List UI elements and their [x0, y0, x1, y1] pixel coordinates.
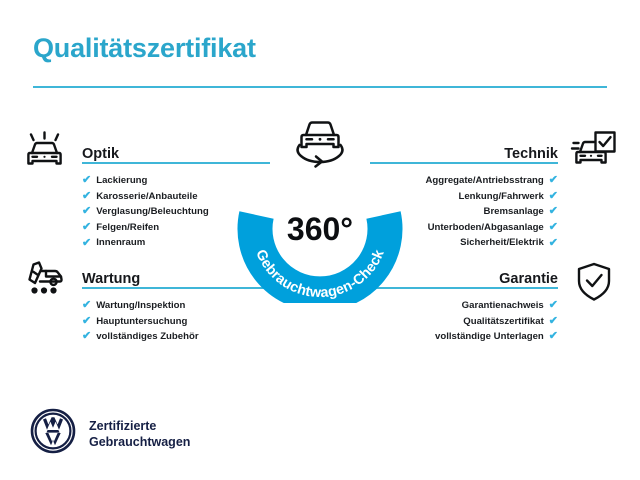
list-item-label: Karosserie/Anbauteile [96, 189, 197, 205]
list-item-label: Hauptuntersuchung [96, 314, 187, 330]
check-icon: ✔ [82, 331, 91, 342]
check-icon: ✔ [549, 331, 558, 342]
car-checkbox-icon [570, 130, 618, 177]
page-title: Qualitätszertifikat [33, 33, 256, 64]
list-item-label: Qualitätszertifikat [463, 314, 544, 330]
360-check-badge: Gebrauchtwagen-Check 360° [232, 155, 408, 303]
title-divider [33, 86, 607, 88]
check-icon: ✔ [549, 238, 558, 249]
vw-logo-icon [30, 408, 76, 459]
check-icon: ✔ [82, 191, 91, 202]
car-service-pen-icon [22, 258, 68, 303]
check-icon: ✔ [82, 316, 91, 327]
list-item-label: Verglasung/Beleuchtung [96, 204, 208, 220]
list-item-label: Lackierung [96, 173, 147, 189]
list-item-label: Sicherheit/Elektrik [460, 235, 544, 251]
check-icon: ✔ [549, 316, 558, 327]
check-icon: ✔ [549, 300, 558, 311]
check-icon: ✔ [82, 238, 91, 249]
badge-ring: Gebrauchtwagen-Check [232, 155, 408, 303]
check-icon: ✔ [82, 206, 91, 217]
list-item-label: vollständiges Zubehör [96, 329, 198, 345]
qualitaetszertifikat-page: Qualitätszertifikat [0, 0, 640, 480]
check-icon: ✔ [82, 175, 91, 186]
list-item: vollständige Unterlagen✔ [368, 329, 558, 345]
check-icon: ✔ [549, 175, 558, 186]
check-icon: ✔ [549, 191, 558, 202]
vw-footer-line2: Gebrauchtwagen [89, 435, 190, 449]
section-wartung-title: Wartung [82, 271, 140, 287]
list-item-label: Lenkung/Fahrwerk [458, 189, 543, 205]
list-item-label: Garantienachweis [462, 298, 544, 314]
list-item-label: vollständige Unterlagen [435, 329, 544, 345]
list-item: Qualitätszertifikat✔ [368, 314, 558, 330]
check-icon: ✔ [549, 222, 558, 233]
section-wartung-list: ✔Wartung/Inspektion ✔Hauptuntersuchung ✔… [82, 298, 272, 345]
vw-footer-line1: Zertifizierte [89, 419, 156, 433]
list-item-label: Wartung/Inspektion [96, 298, 185, 314]
list-item-label: Innenraum [96, 235, 145, 251]
section-garantie-title: Garantie [499, 271, 558, 287]
list-item-label: Unterboden/Abgasanlage [428, 220, 544, 236]
section-garantie-list: Garantienachweis✔ Qualitätszertifikat✔ v… [368, 298, 558, 345]
list-item: ✔vollständiges Zubehör [82, 329, 272, 345]
check-icon: ✔ [82, 300, 91, 311]
vw-footer-text: Zertifizierte Gebrauchtwagen [89, 418, 190, 450]
vw-footer: Zertifizierte Gebrauchtwagen [30, 408, 190, 459]
check-icon: ✔ [82, 222, 91, 233]
list-item-label: Bremsanlage [484, 204, 544, 220]
list-item-label: Aggregate/Antriebsstrang [425, 173, 543, 189]
shield-check-icon [575, 261, 613, 308]
check-icon: ✔ [549, 206, 558, 217]
section-technik-title: Technik [504, 146, 558, 162]
list-item: ✔Hauptuntersuchung [82, 314, 272, 330]
section-optik-title: Optik [82, 146, 119, 162]
list-item-label: Felgen/Reifen [96, 220, 159, 236]
car-shine-icon [22, 131, 68, 176]
